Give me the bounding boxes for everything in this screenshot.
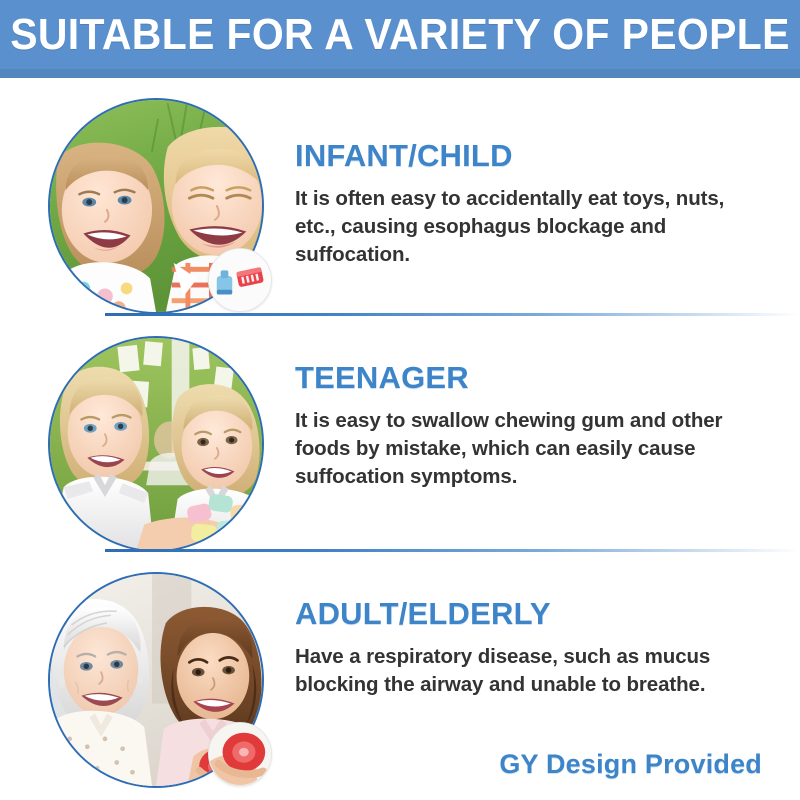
section-divider-2 [105, 549, 800, 552]
photo-frame-adult-elderly [48, 572, 264, 788]
text-column-teenager: TEENAGER It is easy to swallow chewing g… [295, 362, 765, 491]
text-column-infant-child: INFANT/CHILD It is often easy to acciden… [295, 140, 765, 269]
section-body-infant-child: It is often easy to accidentally eat toy… [295, 185, 765, 269]
text-column-adult-elderly: ADULT/ELDERLY Have a respiratory disease… [295, 598, 765, 699]
photo-frame-teenager [48, 336, 264, 552]
section-body-adult-elderly: Have a respiratory disease, such as mucu… [295, 643, 765, 699]
photo-circle [48, 336, 264, 552]
section-heading-adult-elderly: ADULT/ELDERLY [295, 598, 765, 629]
section-heading-infant-child: INFANT/CHILD [295, 140, 765, 171]
section-infant-child: INFANT/CHILD It is often easy to acciden… [0, 92, 800, 320]
section-heading-teenager: TEENAGER [295, 362, 765, 393]
section-body-teenager: It is easy to swallow chewing gum and ot… [295, 407, 765, 491]
product-badge-red-device [208, 722, 272, 786]
header-banner: SUITABLE FOR A VARIETY OF PEOPLE [0, 0, 800, 78]
photo-teen-girls-classroom [50, 338, 262, 550]
section-divider-1 [105, 313, 800, 316]
watermark-credit: GY Design Provided [499, 751, 762, 778]
infographic-page: SUITABLE FOR A VARIETY OF PEOPLE [0, 0, 800, 800]
photo-frame-infant-child [48, 98, 264, 314]
banner-underline [0, 69, 800, 78]
section-teenager: TEENAGER It is easy to swallow chewing g… [0, 330, 800, 558]
page-title: SUITABLE FOR A VARIETY OF PEOPLE [28, 0, 772, 69]
product-badge-blue-red-device [208, 248, 272, 312]
